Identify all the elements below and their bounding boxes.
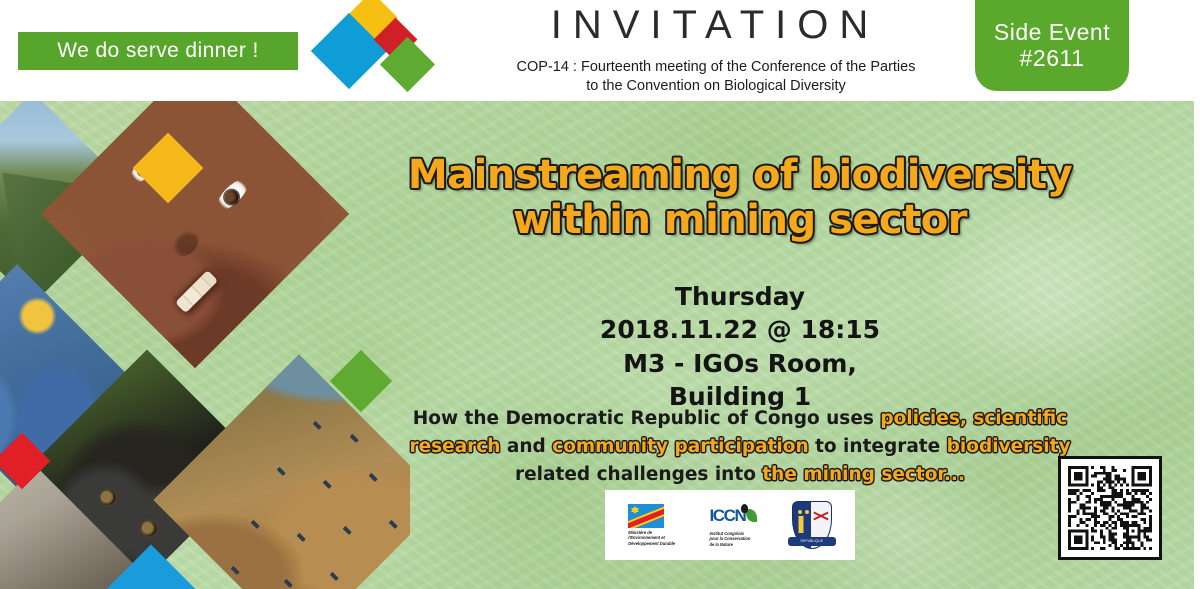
- iccn-caption-line2: pour la Conservation: [709, 536, 750, 541]
- right-edge-strip: [1194, 101, 1200, 589]
- event-title-line2: within mining sector: [395, 198, 1085, 243]
- iccn-caption: Institut Congolais pour la Conservation …: [709, 531, 750, 547]
- event-day: Thursday: [395, 280, 1085, 313]
- qr-code[interactable]: [1058, 456, 1162, 560]
- cop-subtitle-line1: COP-14 : Fourteenth meeting of the Confe…: [440, 58, 992, 77]
- drc-caption-line3: Développement Durable: [628, 541, 675, 546]
- side-event-badge: Side Event #2611: [975, 0, 1129, 91]
- photo-collage: [0, 101, 410, 589]
- crest-ribbon-text: REPUBLIQUE: [788, 537, 836, 546]
- iccn-caption-line3: de la Nature: [709, 542, 750, 547]
- invitation-flyer: We do serve dinner ! INVITATION COP-14 :…: [0, 0, 1200, 589]
- partner-logos-strip: Ministère de l'Environnement et Développ…: [605, 490, 855, 560]
- event-date-time: 2018.11.22 @ 18:15: [395, 313, 1085, 346]
- iccn-acronym: ICCN: [709, 506, 745, 526]
- event-title: Mainstreaming of biodiversity within min…: [395, 153, 1085, 243]
- side-event-number: #2611: [1020, 46, 1085, 72]
- desc-highlight-biodiversity: biodiversity: [947, 436, 1071, 457]
- iccn-logo: ICCN Institut Congolais pour la Conserva…: [709, 503, 757, 547]
- event-title-line1: Mainstreaming of biodiversity: [408, 152, 1072, 198]
- drc-flag-icon: [628, 504, 664, 528]
- shield-crest-icon: REPUBLIQUE: [792, 501, 832, 549]
- desc-highlight-mining-sector: the mining sector...: [762, 464, 965, 485]
- desc-text-5: related challenges into: [515, 464, 762, 485]
- desc-text-3: and: [500, 436, 552, 457]
- photo-smiling-child: [41, 101, 349, 368]
- side-event-label: Side Event: [994, 20, 1110, 46]
- crest-ribbon: REPUBLIQUE: [788, 537, 836, 546]
- desc-highlight-policies: policies,: [880, 408, 967, 429]
- drc-ministry-caption: Ministère de l'Environnement et Développ…: [628, 530, 675, 546]
- event-room: M3 - IGOs Room,: [395, 347, 1085, 380]
- event-when-block: Thursday 2018.11.22 @ 18:15 M3 - IGOs Ro…: [395, 280, 1085, 413]
- dinner-banner: We do serve dinner !: [18, 32, 298, 70]
- main-content: Mainstreaming of biodiversity within min…: [395, 101, 1200, 589]
- qr-code-canvas: [1068, 466, 1152, 550]
- desc-text-4: to integrate: [809, 436, 947, 457]
- event-description: How the Democratic Republic of Congo use…: [405, 405, 1075, 488]
- desc-text-1: How the Democratic Republic of Congo use…: [413, 408, 881, 429]
- dinner-banner-label: We do serve dinner !: [57, 39, 258, 63]
- cop-subtitle-line2: to the Convention on Biological Diversit…: [440, 77, 992, 96]
- drc-ministry-logo: Ministère de l'Environnement et Développ…: [628, 504, 675, 546]
- header-bar: We do serve dinner ! INVITATION COP-14 :…: [0, 0, 1200, 101]
- iccn-mark-icon: ICCN: [709, 503, 757, 529]
- desc-highlight-community-participation: community participation: [552, 436, 808, 457]
- cbd-diamonds-icon: [312, 2, 434, 98]
- invitation-title: INVITATION: [455, 4, 975, 46]
- iccn-leaf-icon: [746, 509, 757, 522]
- crest-emblem-logo: REPUBLIQUE: [792, 501, 832, 549]
- cop-subtitle: COP-14 : Fourteenth meeting of the Confe…: [440, 58, 992, 96]
